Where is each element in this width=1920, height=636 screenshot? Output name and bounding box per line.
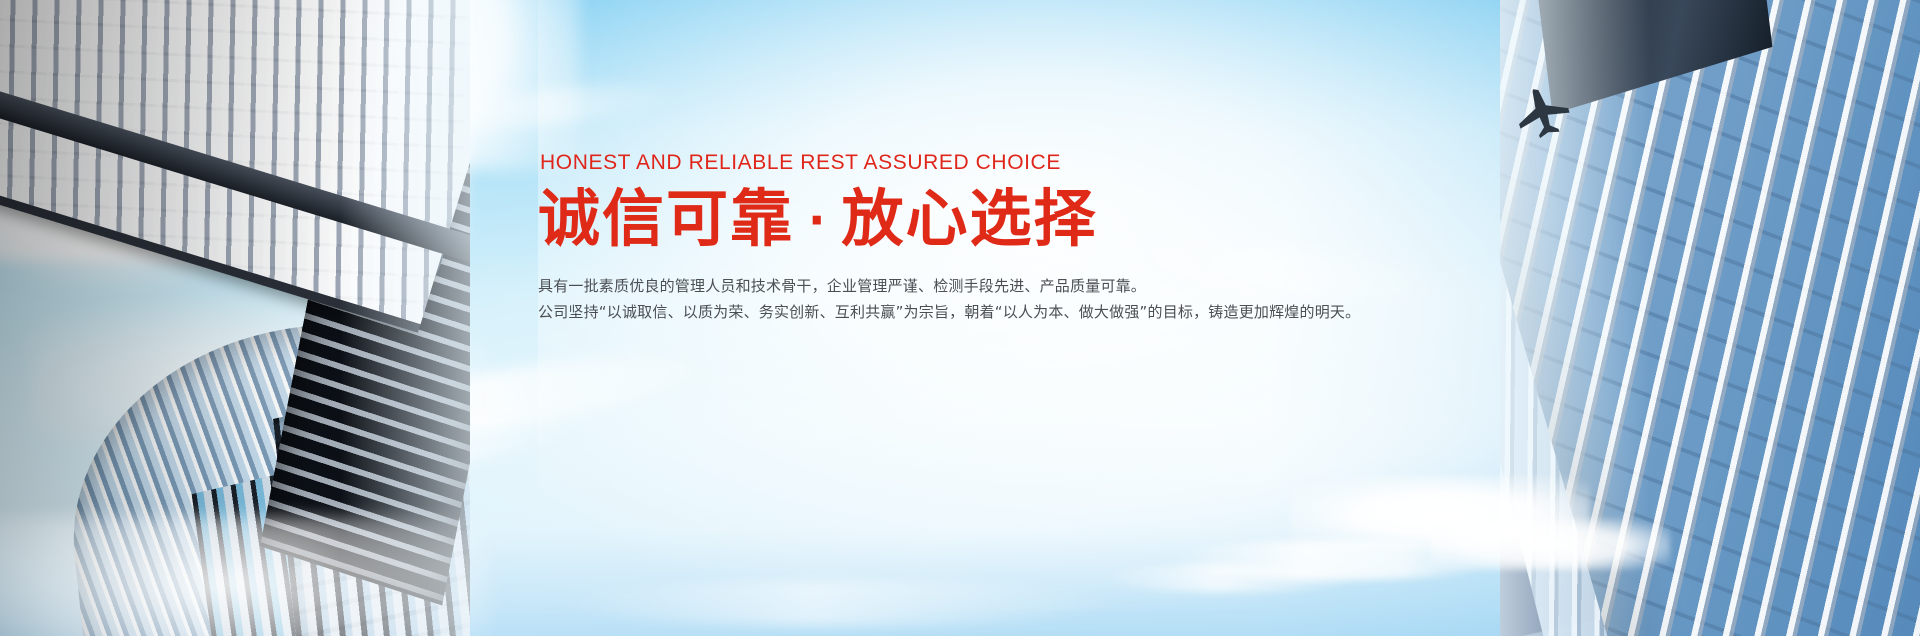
left-building — [0, 0, 470, 636]
headline-left: 诚信可靠 — [538, 182, 794, 255]
banner-copy: HONEST AND RELIABLE REST ASSURED CHOICE … — [538, 152, 1378, 325]
banner-body-line-1: 具有一批素质优良的管理人员和技术骨干，企业管理严谨、检测手段先进、产品质量可靠。 — [538, 273, 1378, 299]
banner-headline: 诚信可靠·放心选择 — [538, 187, 1378, 251]
headline-right: 放心选择 — [842, 182, 1098, 255]
banner-eyebrow: HONEST AND RELIABLE REST ASSURED CHOICE — [540, 152, 1378, 173]
headline-separator-dot: · — [794, 193, 841, 247]
hero-banner: HONEST AND RELIABLE REST ASSURED CHOICE … — [0, 0, 1920, 636]
banner-body-line-2: 公司坚持“以诚取信、以质为荣、务实创新、互利共赢”为宗旨，朝着“以人为本、做大做… — [538, 299, 1378, 325]
